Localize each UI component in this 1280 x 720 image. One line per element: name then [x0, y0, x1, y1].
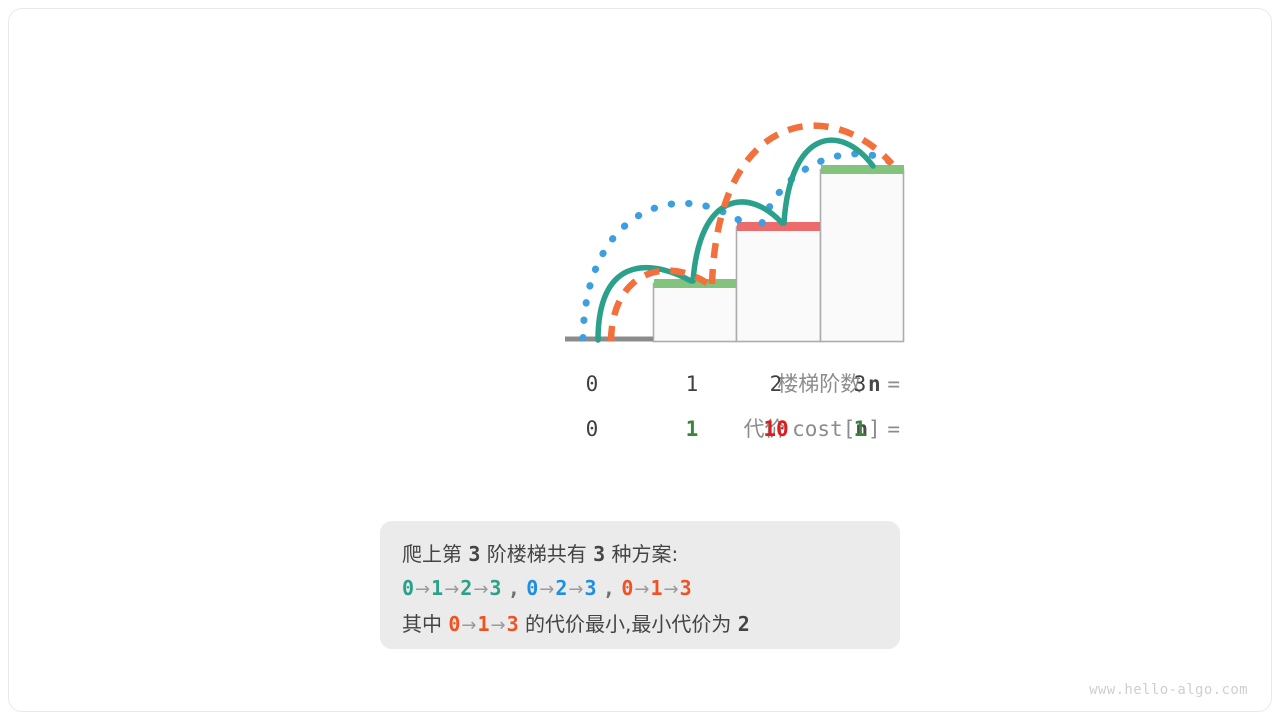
- seq-a-1: 1: [431, 576, 443, 600]
- seq-b-1: 2: [555, 576, 567, 600]
- note-l3-seq-2: 3: [507, 612, 519, 636]
- cell-cost-1: 1: [662, 412, 722, 446]
- seq-separator-1: ,: [508, 576, 520, 600]
- seq-b-2: 3: [585, 576, 597, 600]
- seq-b-0: 0: [526, 576, 538, 600]
- cell-cost-2: 10: [746, 412, 806, 446]
- seq-separator-2: ,: [603, 576, 615, 600]
- arrow-icon: →: [538, 579, 555, 600]
- note-l3-prefix: 其中: [402, 612, 442, 636]
- explanation-box: 爬上第 3 阶楼梯共有 3 种方案: 0→1→2→3 , 0→2→3 , 0→1…: [380, 521, 900, 649]
- note-l1-part3: 种方案:: [612, 542, 679, 566]
- arrow-icon: →: [460, 615, 477, 636]
- table-row-cost: 代价 cost[n] = 0 1 10 1: [320, 412, 900, 446]
- note-l1-plans: 3: [593, 542, 605, 566]
- note-l3-middle: 的代价最小,最小代价为: [525, 612, 731, 636]
- cell-n-3: 3: [830, 367, 890, 401]
- arrow-icon: →: [663, 579, 680, 600]
- arrow-icon: →: [490, 615, 507, 636]
- arrow-icon: →: [443, 579, 460, 600]
- arrow-icon: →: [472, 579, 489, 600]
- cell-n-2: 2: [746, 367, 806, 401]
- cell-n-1: 1: [662, 367, 722, 401]
- cell-cost-0: 0: [562, 412, 622, 446]
- watermark: www.hello-algo.com: [1089, 682, 1248, 698]
- note-l1-part1: 爬上第: [402, 542, 462, 566]
- cell-cost-3: 1: [830, 412, 890, 446]
- note-l3-mincost: 2: [738, 612, 750, 636]
- seq-c-1: 1: [650, 576, 662, 600]
- note-line-1: 爬上第 3 阶楼梯共有 3 种方案:: [402, 537, 878, 571]
- note-line-3: 其中 0→1→3 的代价最小,最小代价为 2: [402, 607, 878, 643]
- screenshot-canvas: 楼梯阶数 n = 0 1 2 3 代价 cost[n] = 0 1 10 1 爬…: [0, 0, 1280, 720]
- table-row-stairs: 楼梯阶数 n = 0 1 2 3: [320, 367, 900, 401]
- note-l3-seq-0: 0: [448, 612, 460, 636]
- seq-a-2: 2: [460, 576, 472, 600]
- note-line-2: 0→1→2→3 , 0→2→3 , 0→1→3: [402, 571, 878, 607]
- seq-a-3: 3: [489, 576, 501, 600]
- seq-a-0: 0: [402, 576, 414, 600]
- note-l1-part2: 阶楼梯共有: [487, 542, 587, 566]
- seq-c-2: 3: [680, 576, 692, 600]
- cell-n-0: 0: [562, 367, 622, 401]
- note-l1-stairs: 3: [468, 542, 480, 566]
- arrow-icon: →: [567, 579, 584, 600]
- seq-c-0: 0: [621, 576, 633, 600]
- arrow-icon: →: [633, 579, 650, 600]
- arrow-icon: →: [414, 579, 431, 600]
- note-l3-seq-1: 1: [478, 612, 490, 636]
